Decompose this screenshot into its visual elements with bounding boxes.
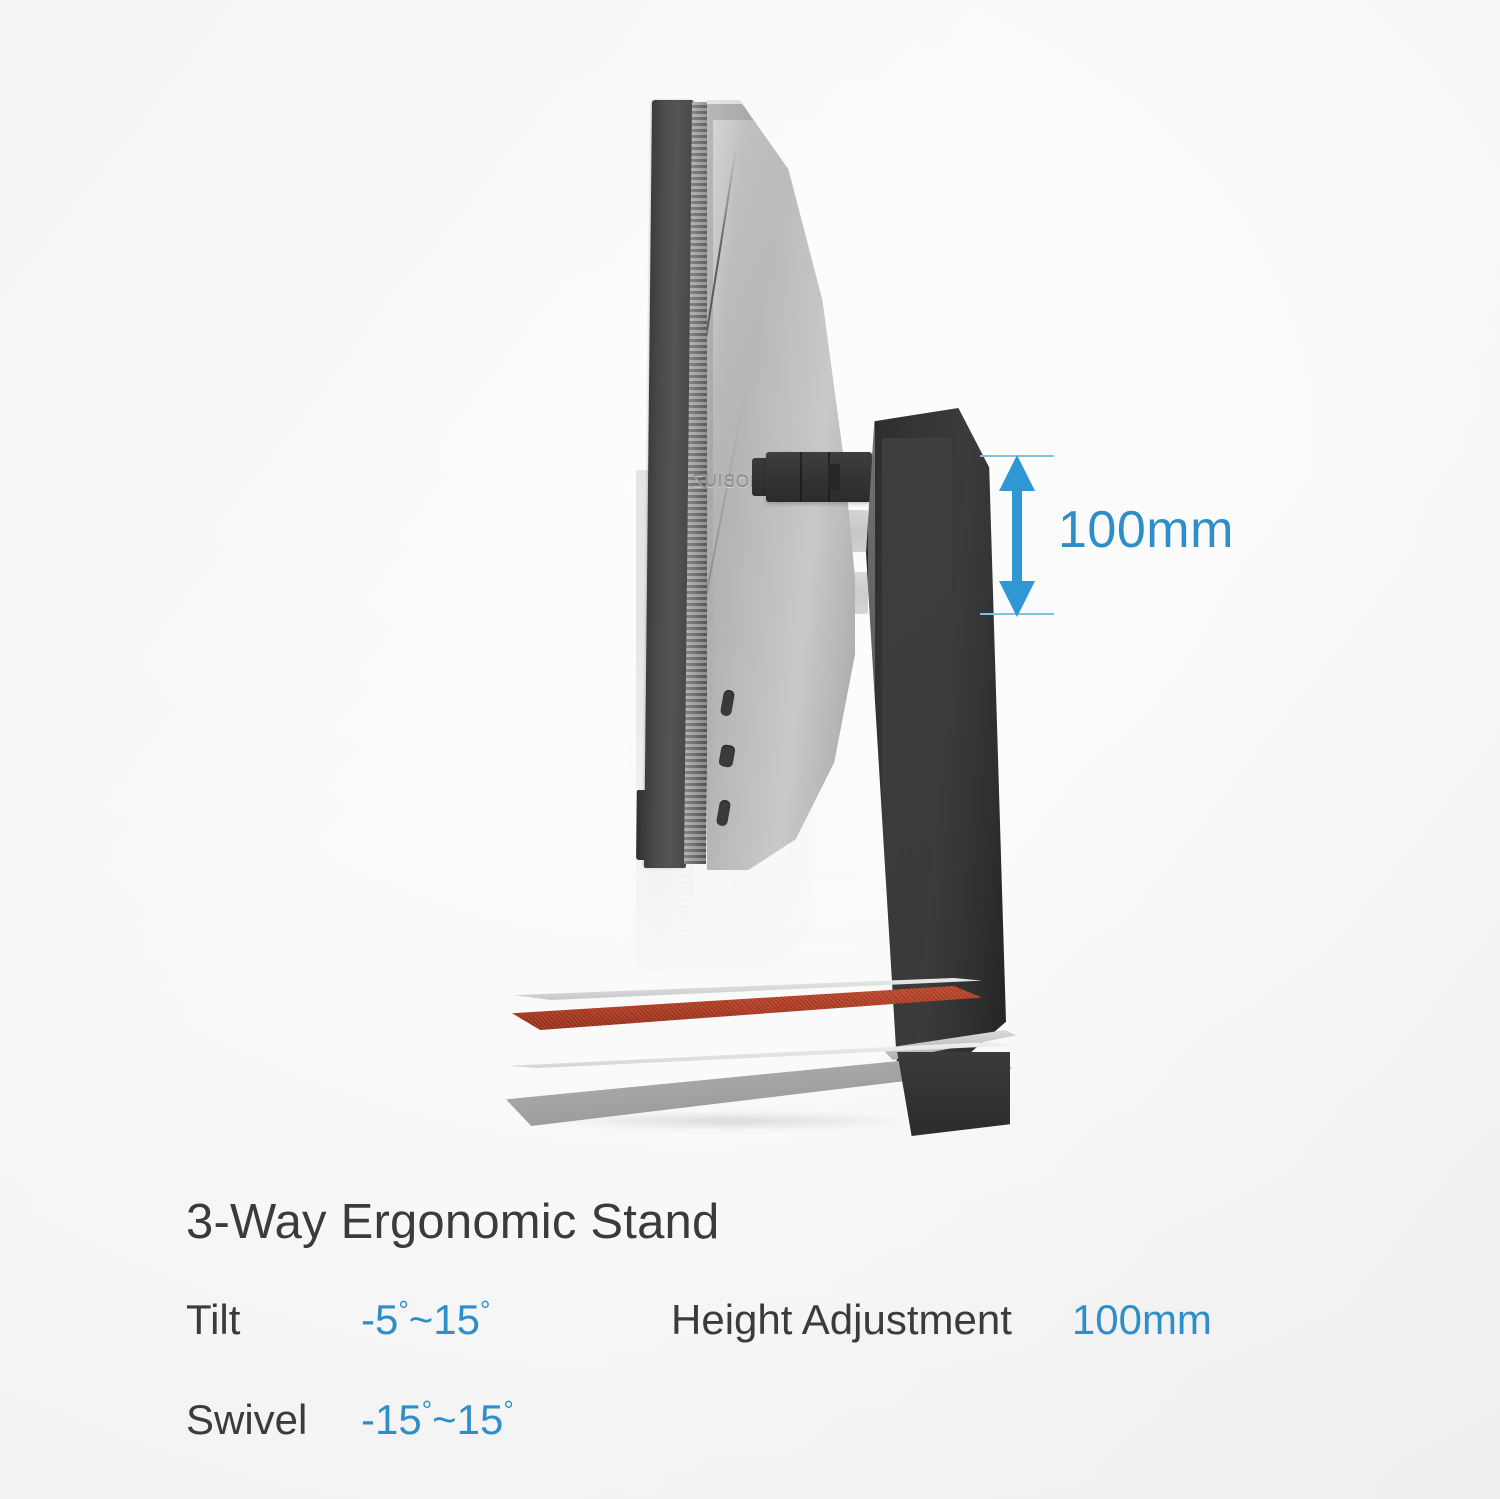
product-photo: MOBIUZ xyxy=(0,0,1500,1180)
degree-symbol: ° xyxy=(503,1395,513,1425)
spec-value-swivel: -15°~15° xyxy=(361,1396,671,1444)
tilt-min: -5 xyxy=(361,1296,398,1343)
bracket-release-tab xyxy=(828,464,840,490)
page-title: 3-Way Ergonomic Stand xyxy=(186,1196,1386,1250)
spec-label-tilt: Tilt xyxy=(186,1296,361,1344)
product-feature-image: MOBIUZ xyxy=(0,0,1500,1499)
vesa-bracket xyxy=(766,452,872,502)
tilt-tilde: ~ xyxy=(409,1296,434,1343)
shell-top-highlight xyxy=(707,100,847,104)
height-dimension-annotation: 100mm xyxy=(960,420,1300,660)
spec-label-swivel: Swivel xyxy=(186,1396,361,1444)
degree-symbol: ° xyxy=(398,1295,408,1325)
bracket-seam xyxy=(800,452,802,502)
degree-symbol: ° xyxy=(480,1295,490,1325)
spec-row-tilt: Tilt -5°~15° Height Adjustment 100mm xyxy=(186,1296,1386,1344)
spec-label-height-adjustment: Height Adjustment xyxy=(671,1296,1012,1344)
spec-value-height-adjustment: 100mm xyxy=(1072,1296,1212,1344)
swivel-min: -15 xyxy=(361,1396,422,1443)
base-foot-block xyxy=(890,1052,1010,1136)
spec-value-tilt: -5°~15° xyxy=(361,1296,671,1344)
double-headed-vertical-arrow-icon xyxy=(998,453,1038,619)
tilt-max: 15 xyxy=(433,1296,480,1343)
swivel-max: 15 xyxy=(457,1396,504,1443)
swivel-tilde: ~ xyxy=(432,1396,457,1443)
degree-symbol: ° xyxy=(422,1395,432,1425)
caption-block: 3-Way Ergonomic Stand Tilt -5°~15° Heigh… xyxy=(186,1196,1386,1444)
dimension-label: 100mm xyxy=(1058,500,1234,560)
spec-list: Tilt -5°~15° Height Adjustment 100mm Swi… xyxy=(186,1296,1386,1444)
spec-row-swivel: Swivel -15°~15° xyxy=(186,1396,1386,1444)
stand-base xyxy=(500,930,1060,1160)
